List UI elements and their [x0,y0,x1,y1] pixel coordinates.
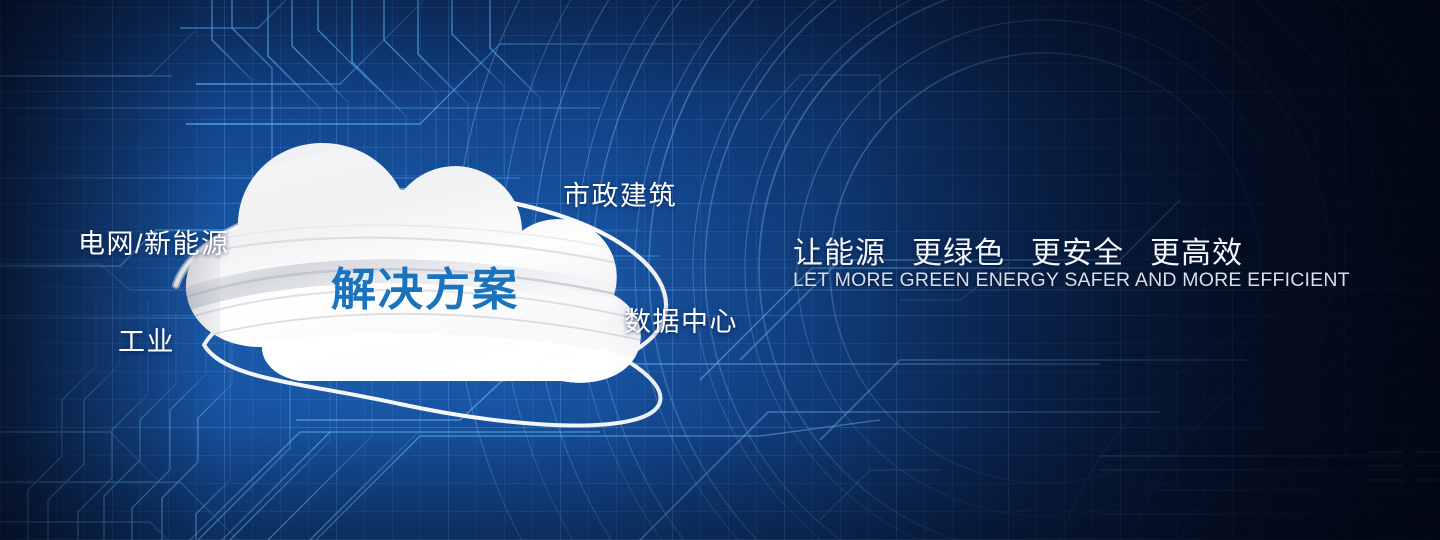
label-grid-new-energy: 电网/新能源 [78,222,230,261]
slogan-part-3: 更安全 [1031,237,1124,270]
slogan-part-2: 更绿色 [912,237,1005,270]
solution-banner: 电网/新能源 工业 市政建筑 数据中心 解决方案 让能源更绿色更安全更高效 LE… [0,0,1440,540]
slogan-part-4: 更高效 [1150,237,1243,270]
slogan-english: LET MORE GREEN ENERGY SAFER AND MORE EFF… [793,269,1350,292]
slogan-chinese: 让能源更绿色更安全更高效 [793,228,1243,272]
cloud-title-solution: 解决方案 [331,253,519,318]
label-data-center: 数据中心 [624,300,738,339]
label-municipal-building: 市政建筑 [563,174,677,213]
slogan-part-1: 让能源 [793,237,886,270]
label-industry: 工业 [118,320,175,359]
